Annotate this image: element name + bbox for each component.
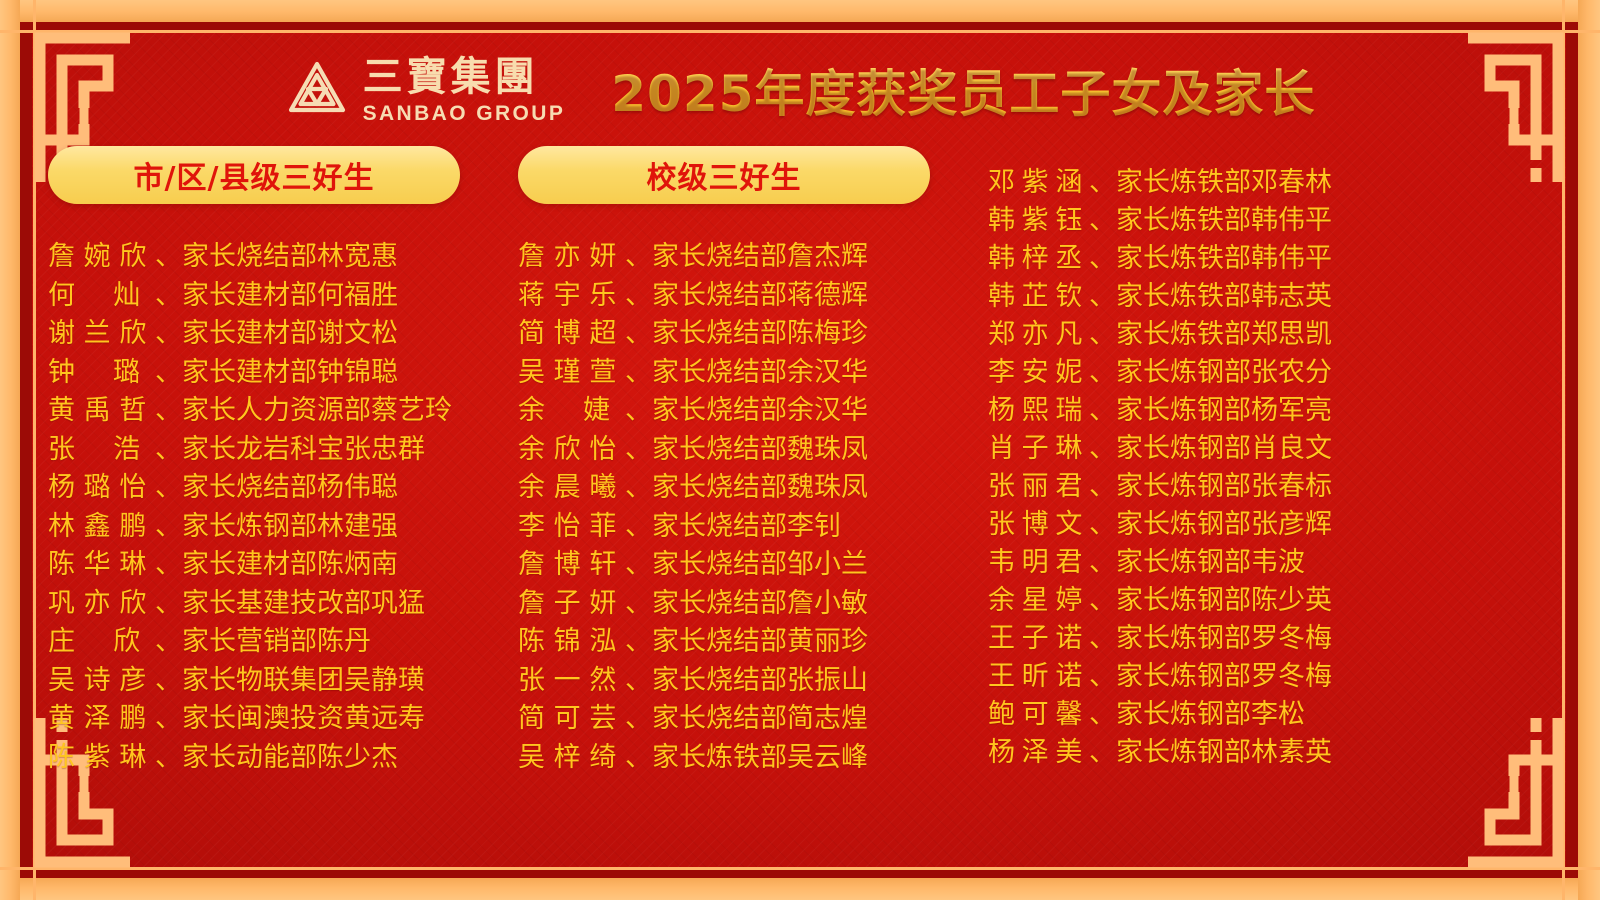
list-item: 李怡菲、家长烧结部李钊 [518,504,988,543]
parent-info: 家长烧结部余汉华 [652,388,868,427]
list-item: 张丽君、家长炼钢部张春标 [988,464,1548,502]
logo-wordmark: 三寶集團 SANBAO GROUP [363,57,566,124]
student-name: 杨泽美、 [988,730,1116,769]
list-item: 张 浩、家长龙岩科宝张忠群 [48,427,518,466]
student-name: 韩芷钦、 [988,274,1116,313]
list-item: 杨熙瑞、家长炼钢部杨军亮 [988,388,1548,426]
logo-chinese-name: 三寶集團 [363,57,539,97]
parent-info: 家长烧结部蒋德辉 [652,273,868,312]
category-badge-label: 市/区/县级三好生 [134,153,375,197]
list-item: 黄泽鹏、家长闽澳投资黄远寿 [48,696,518,735]
award-poster: 三寶集團 SANBAO GROUP 2025年度获奖员工子女及家长 市/区/县级… [0,0,1600,900]
student-name: 余星婷、 [988,578,1116,617]
parent-info: 家长建材部钟锦聪 [182,350,398,389]
parent-info: 家长烧结部魏珠凤 [652,427,868,466]
frame-band-top [0,0,1600,22]
list-item: 简可芸、家长烧结部简志煌 [518,696,988,735]
student-name: 王子诺、 [988,616,1116,655]
frame-band-bottom [0,878,1600,900]
student-name: 巩亦欣、 [48,581,182,620]
parent-info: 家长炼铁部韩志英 [1116,274,1332,313]
parent-info: 家长烧结部林宽惠 [182,234,398,273]
list-item: 鲍可馨、家长炼钢部李松 [988,692,1548,730]
list-item: 肖子琳、家长炼钢部肖良文 [988,426,1548,464]
student-name: 张丽君、 [988,464,1116,503]
list-item: 詹子妍、家长烧结部詹小敏 [518,581,988,620]
parent-info: 家长建材部何福胜 [182,273,398,312]
list-item: 韩紫钰、家长炼铁部韩伟平 [988,198,1548,236]
student-name: 吴诗彦、 [48,658,182,697]
student-name: 鲍可馨、 [988,692,1116,731]
student-name: 韩梓丞、 [988,236,1116,275]
parent-info: 家长龙岩科宝张忠群 [182,427,425,466]
student-name: 王昕诺、 [988,654,1116,693]
frame-strip-bottom [0,869,1600,878]
list-item: 张一然、家长烧结部张振山 [518,658,988,697]
student-name: 蒋宇乐、 [518,273,652,312]
parent-info: 家长建材部谢文松 [182,311,398,350]
parent-info: 家长炼钢部韦波 [1116,540,1305,579]
parent-info: 家长炼钢部林素英 [1116,730,1332,769]
parent-info: 家长炼钢部肖良文 [1116,426,1332,465]
student-name: 邓紫涵、 [988,160,1116,199]
student-name: 陈华琳、 [48,542,182,581]
parent-info: 家长烧结部黄丽珍 [652,619,868,658]
list-item: 韩梓丞、家长炼铁部韩伟平 [988,236,1548,274]
list-item: 蒋宇乐、家长烧结部蒋德辉 [518,273,988,312]
parent-info: 家长炼铁部韩伟平 [1116,198,1332,237]
list-item: 詹博轩、家长烧结部邹小兰 [518,542,988,581]
list-item: 韩芷钦、家长炼铁部韩志英 [988,274,1548,312]
student-name: 陈紫琳、 [48,735,182,774]
list-item: 巩亦欣、家长基建技改部巩猛 [48,581,518,620]
parent-info: 家长烧结部张振山 [652,658,868,697]
parent-info: 家长动能部陈少杰 [182,735,398,774]
student-name: 余 婕、 [518,388,652,427]
student-name: 李安妮、 [988,350,1116,389]
list-item: 张博文、家长炼钢部张彦辉 [988,502,1548,540]
student-name: 陈锦泓、 [518,619,652,658]
list-item: 王昕诺、家长炼钢部罗冬梅 [988,654,1548,692]
list-item: 陈锦泓、家长烧结部黄丽珍 [518,619,988,658]
list-item: 陈紫琳、家长动能部陈少杰 [48,735,518,774]
list-item: 李安妮、家长炼钢部张农分 [988,350,1548,388]
parent-info: 家长炼钢部罗冬梅 [1116,616,1332,655]
student-name: 詹亦妍、 [518,234,652,273]
parent-info: 家长烧结部詹杰辉 [652,234,868,273]
parent-info: 家长炼铁部邓春林 [1116,160,1332,199]
list-item: 钟 璐、家长建材部钟锦聪 [48,350,518,389]
list-item: 黄禹哲、家长人力资源部蔡艺玲 [48,388,518,427]
list-item: 詹婉欣、家长烧结部林宽惠 [48,234,518,273]
category-badge-label: 校级三好生 [647,153,802,197]
list-item: 杨泽美、家长炼钢部林素英 [988,730,1548,768]
parent-info: 家长炼铁部郑思凯 [1116,312,1332,351]
list-item: 余星婷、家长炼钢部陈少英 [988,578,1548,616]
student-name: 李怡菲、 [518,504,652,543]
student-name: 韩紫钰、 [988,198,1116,237]
list-item: 余晨曦、家长烧结部魏珠凤 [518,465,988,504]
student-name: 林鑫鹏、 [48,504,182,543]
parent-info: 家长烧结部李钊 [652,504,841,543]
entry-list-school: 詹亦妍、家长烧结部詹杰辉 蒋宇乐、家长烧结部蒋德辉 简博超、家长烧结部陈梅珍 吴… [518,234,988,773]
logo-english-name: SANBAO GROUP [363,103,566,124]
list-item: 邓紫涵、家长炼铁部邓春林 [988,160,1548,198]
parent-info: 家长烧结部邹小兰 [652,542,868,581]
parent-info: 家长烧结部魏珠凤 [652,465,868,504]
parent-info: 家长烧结部詹小敏 [652,581,868,620]
student-name: 郑亦凡、 [988,312,1116,351]
parent-info: 家长炼钢部李松 [1116,692,1305,731]
parent-info: 家长炼钢部张彦辉 [1116,502,1332,541]
student-name: 杨熙瑞、 [988,388,1116,427]
parent-info: 家长营销部陈丹 [182,619,371,658]
student-name: 詹博轩、 [518,542,652,581]
list-item: 吴瑾萱、家长烧结部余汉华 [518,350,988,389]
parent-info: 家长物联集团吴静璜 [182,658,425,697]
column-school-level-continued: 邓紫涵、家长炼铁部邓春林 韩紫钰、家长炼铁部韩伟平 韩梓丞、家长炼铁部韩伟平 韩… [988,146,1548,846]
entry-list-continued: 邓紫涵、家长炼铁部邓春林 韩紫钰、家长炼铁部韩伟平 韩梓丞、家长炼铁部韩伟平 韩… [988,160,1548,768]
column-city-district-county: 市/区/县级三好生 詹婉欣、家长烧结部林宽惠 何 灿、家长建材部何福胜 谢兰欣、… [48,146,518,846]
entry-list-city: 詹婉欣、家长烧结部林宽惠 何 灿、家长建材部何福胜 谢兰欣、家长建材部谢文松 钟… [48,234,518,773]
company-logo: 三寶集團 SANBAO GROUP [285,57,566,124]
parent-info: 家长炼钢部陈少英 [1116,578,1332,617]
parent-info: 家长建材部陈炳南 [182,542,398,581]
list-item: 余欣怡、家长烧结部魏珠凤 [518,427,988,466]
triangle-knot-logo-icon [285,58,349,122]
student-name: 韦明君、 [988,540,1116,579]
page-title: 2025年度获奖员工子女及家长 [611,54,1315,126]
student-name: 黄泽鹏、 [48,696,182,735]
parent-info: 家长人力资源部蔡艺玲 [182,388,452,427]
parent-info: 家长炼钢部林建强 [182,504,398,543]
student-name: 肖子琳、 [988,426,1116,465]
list-item: 余 婕、家长烧结部余汉华 [518,388,988,427]
list-item: 王子诺、家长炼钢部罗冬梅 [988,616,1548,654]
list-item: 吴梓绮、家长炼铁部吴云峰 [518,735,988,774]
student-name: 张一然、 [518,658,652,697]
list-item: 林鑫鹏、家长炼钢部林建强 [48,504,518,543]
award-columns: 市/区/县级三好生 詹婉欣、家长烧结部林宽惠 何 灿、家长建材部何福胜 谢兰欣、… [48,146,1558,846]
poster-header: 三寶集團 SANBAO GROUP 2025年度获奖员工子女及家长 [0,44,1600,136]
list-item: 郑亦凡、家长炼铁部郑思凯 [988,312,1548,350]
list-item: 韦明君、家长炼钢部韦波 [988,540,1548,578]
student-name: 谢兰欣、 [48,311,182,350]
parent-info: 家长炼钢部张春标 [1116,464,1332,503]
list-item: 庄 欣、家长营销部陈丹 [48,619,518,658]
frame-hairline-top [0,30,1600,33]
parent-info: 家长基建技改部巩猛 [182,581,425,620]
list-item: 吴诗彦、家长物联集团吴静璜 [48,658,518,697]
column-school-level: 校级三好生 詹亦妍、家长烧结部詹杰辉 蒋宇乐、家长烧结部蒋德辉 简博超、家长烧结… [518,146,988,846]
student-name: 吴瑾萱、 [518,350,652,389]
student-name: 余晨曦、 [518,465,652,504]
student-name: 吴梓绮、 [518,735,652,774]
student-name: 杨璐怡、 [48,465,182,504]
parent-info: 家长炼铁部吴云峰 [652,735,868,774]
list-item: 詹亦妍、家长烧结部詹杰辉 [518,234,988,273]
student-name: 张 浩、 [48,427,182,466]
student-name: 简博超、 [518,311,652,350]
student-name: 钟 璐、 [48,350,182,389]
list-item: 何 灿、家长建材部何福胜 [48,273,518,312]
parent-info: 家长烧结部简志煌 [652,696,868,735]
category-badge-school: 校级三好生 [518,146,930,204]
parent-info: 家长烧结部余汉华 [652,350,868,389]
parent-info: 家长炼钢部张农分 [1116,350,1332,389]
parent-info: 家长炼铁部韩伟平 [1116,236,1332,275]
parent-info: 家长炼钢部罗冬梅 [1116,654,1332,693]
student-name: 黄禹哲、 [48,388,182,427]
student-name: 余欣怡、 [518,427,652,466]
student-name: 简可芸、 [518,696,652,735]
student-name: 詹婉欣、 [48,234,182,273]
list-item: 陈华琳、家长建材部陈炳南 [48,542,518,581]
category-badge-city: 市/区/县级三好生 [48,146,460,204]
student-name: 詹子妍、 [518,581,652,620]
parent-info: 家长炼钢部杨军亮 [1116,388,1332,427]
list-item: 简博超、家长烧结部陈梅珍 [518,311,988,350]
parent-info: 家长闽澳投资黄远寿 [182,696,425,735]
student-name: 何 灿、 [48,273,182,312]
parent-info: 家长烧结部杨伟聪 [182,465,398,504]
list-item: 谢兰欣、家长建材部谢文松 [48,311,518,350]
parent-info: 家长烧结部陈梅珍 [652,311,868,350]
list-item: 杨璐怡、家长烧结部杨伟聪 [48,465,518,504]
student-name: 庄 欣、 [48,619,182,658]
frame-hairline-bottom [0,867,1600,870]
student-name: 张博文、 [988,502,1116,541]
